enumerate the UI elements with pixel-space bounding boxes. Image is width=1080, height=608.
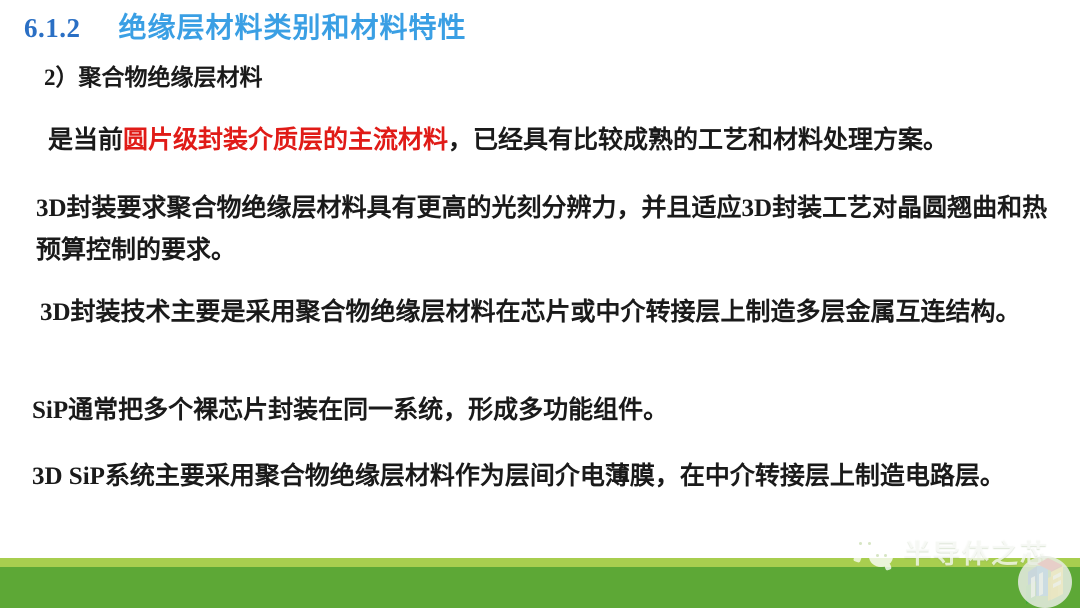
footer-accent-stripe bbox=[0, 558, 1080, 567]
paragraph-sip: SiP通常把多个裸芯片封装在同一系统，形成多功能组件。 bbox=[32, 398, 668, 423]
lead-text-after: ，已经具有比较成熟的工艺和材料处理方案。 bbox=[448, 126, 948, 154]
paragraph-3d-packaging-technology: 3D封装技术主要是采用聚合物绝缘层材料在芯片或中介转接层上制造多层金属互连结构。 bbox=[40, 292, 1050, 334]
subheading-polymer-insulation: 2）聚合物绝缘层材料 bbox=[44, 66, 263, 89]
page-title: 6.1.2 绝缘层材料类别和材料特性 bbox=[24, 6, 467, 46]
heading-title: 绝缘层材料类别和材料特性 bbox=[119, 6, 467, 46]
ms-cube-logo bbox=[1018, 556, 1072, 608]
paragraph-3d-packaging-requirements: 3D封装要求聚合物绝缘层材料具有更高的光刻分辨力，并且适应3D封装工艺对晶圆翘曲… bbox=[36, 188, 1048, 272]
logo-halo bbox=[1018, 556, 1072, 608]
lead-paragraph: 是当前圆片级封装介质层的主流材料，已经具有比较成熟的工艺和材料处理方案。 bbox=[48, 128, 948, 153]
paragraph-3d-sip: 3D SiP系统主要采用聚合物绝缘层材料作为层间介电薄膜，在中介转接层上制造电路… bbox=[32, 456, 1046, 498]
heading-number: 6.1.2 bbox=[24, 13, 81, 44]
lead-text-before: 是当前 bbox=[48, 126, 123, 154]
slide-canvas: 6.1.2 绝缘层材料类别和材料特性 2）聚合物绝缘层材料 是当前圆片级封装介质… bbox=[0, 0, 1080, 608]
footer-green-band bbox=[0, 567, 1080, 608]
lead-text-highlight: 圆片级封装介质层的主流材料 bbox=[123, 126, 448, 154]
